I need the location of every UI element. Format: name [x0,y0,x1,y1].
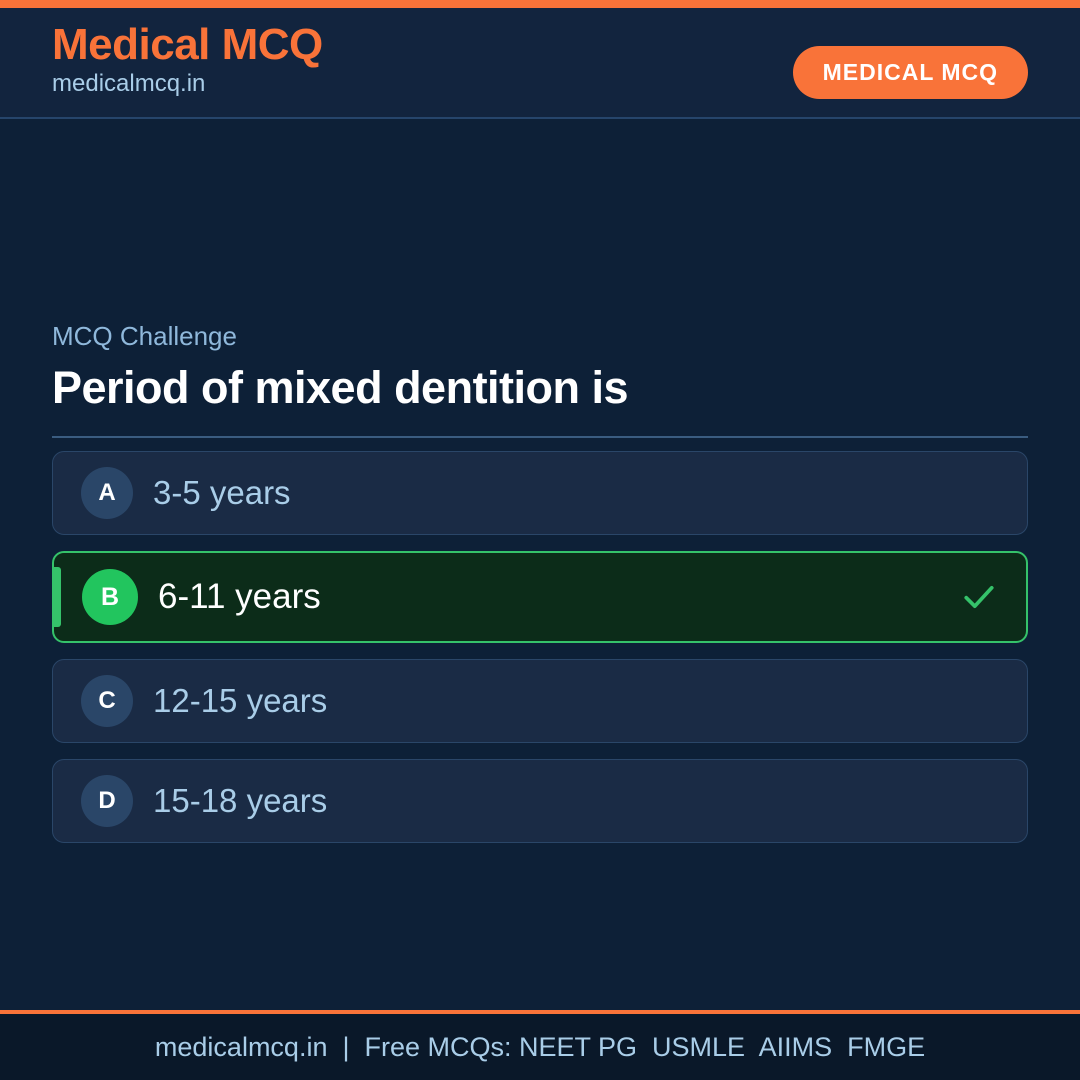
question-text: Period of mixed dentition is [52,362,1028,414]
top-accent-strip [0,0,1080,8]
brand-title: Medical MCQ [52,22,323,68]
option-a[interactable]: A 3-5 years [52,451,1028,535]
question-divider [52,436,1028,438]
option-label: 12-15 years [153,681,327,721]
option-label: 15-18 years [153,781,327,821]
page-footer: medicalmcq.in | Free MCQs: NEET PG USMLE… [0,1010,1080,1080]
page-header: Medical MCQ medicalmcq.in MEDICAL MCQ [0,8,1080,119]
question-block: MCQ Challenge Period of mixed dentition … [52,321,1028,438]
options-list: A 3-5 years B 6-11 years C 12-15 years D… [52,451,1028,859]
option-d[interactable]: D 15-18 years [52,759,1028,843]
option-b[interactable]: B 6-11 years [52,551,1028,643]
option-letter-badge: C [81,675,133,727]
check-icon [962,580,996,614]
main-content: MCQ Challenge Period of mixed dentition … [0,121,1080,1010]
brand-block: Medical MCQ medicalmcq.in [52,22,323,98]
option-letter-badge: D [81,775,133,827]
option-letter-badge: B [82,569,138,625]
question-eyebrow: MCQ Challenge [52,321,1028,352]
option-letter-badge: A [81,467,133,519]
brand-subtitle: medicalmcq.in [52,71,323,97]
brand-badge[interactable]: MEDICAL MCQ [793,46,1028,99]
footer-text: medicalmcq.in | Free MCQs: NEET PG USMLE… [155,1031,925,1063]
option-label: 6-11 years [158,576,321,618]
accent-bar [54,567,61,627]
option-c[interactable]: C 12-15 years [52,659,1028,743]
option-label: 3-5 years [153,473,291,513]
